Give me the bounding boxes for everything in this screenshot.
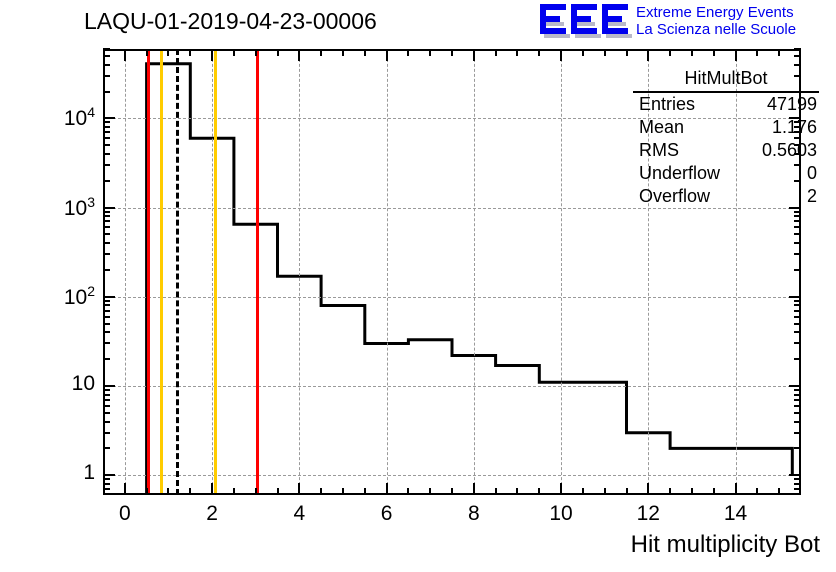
axis-tick: [103, 137, 110, 139]
axis-tick: [794, 253, 801, 255]
stats-row: Entries47199: [633, 93, 819, 116]
axis-tick: [277, 488, 279, 495]
axis-tick: [794, 233, 801, 235]
axis-tick: [103, 310, 110, 312]
axis-tick: [103, 164, 110, 166]
axis-tick: [794, 300, 801, 302]
root-canvas: LAQU-01-2019-04-23-00006 Extreme Energy …: [0, 0, 836, 572]
y-axis-tick-label: 102: [64, 283, 95, 310]
axis-tick: [794, 399, 801, 401]
axis-tick: [516, 49, 518, 56]
stats-row-key: RMS: [639, 140, 679, 161]
axis-tick: [103, 412, 110, 414]
stats-row-value: 0: [807, 163, 817, 184]
stats-row-key: Mean: [639, 117, 684, 138]
axis-tick: [495, 49, 497, 56]
axis-tick: [146, 49, 148, 56]
axis-tick: [103, 488, 110, 490]
axis-tick: [103, 300, 110, 302]
x-axis-tick-label: 6: [357, 502, 417, 526]
y-axis-tick-label: 10: [72, 372, 95, 396]
x-axis-tick-label: 10: [531, 502, 591, 526]
axis-tick: [103, 64, 110, 66]
stats-box-title: HitMultBot: [633, 68, 819, 93]
stats-row-key: Overflow: [639, 186, 710, 207]
axis-tick: [691, 488, 693, 495]
axis-tick: [794, 226, 801, 228]
axis-tick: [103, 385, 115, 387]
axis-tick: [789, 385, 801, 387]
axis-tick: [794, 405, 801, 407]
axis-tick: [103, 474, 115, 476]
axis-tick: [103, 180, 110, 182]
axis-tick: [473, 49, 475, 61]
axis-tick: [789, 296, 801, 298]
axis-tick: [320, 49, 322, 56]
stats-row-value: 47199: [767, 94, 817, 115]
axis-tick: [277, 49, 279, 56]
stats-box: HitMultBot Entries47199Mean1.176RMS0.560…: [633, 68, 819, 208]
axis-tick: [103, 389, 110, 391]
axis-tick: [167, 488, 169, 495]
axis-tick: [146, 488, 148, 495]
axis-tick: [794, 323, 801, 325]
axis-tick: [167, 49, 169, 56]
x-axis-tick-label: 14: [706, 502, 766, 526]
stats-row: Mean1.176: [633, 116, 819, 139]
axis-tick: [189, 488, 191, 495]
axis-tick: [604, 488, 606, 495]
axis-tick: [794, 316, 801, 318]
axis-tick: [103, 91, 110, 93]
axis-tick: [451, 49, 453, 56]
axis-tick: [103, 126, 110, 128]
axis-tick: [103, 121, 110, 123]
axis-tick: [364, 49, 366, 56]
axis-tick: [211, 49, 213, 61]
axis-tick: [669, 488, 671, 495]
stats-row: Underflow0: [633, 162, 819, 185]
axis-tick: [794, 55, 801, 57]
axis-tick: [233, 488, 235, 495]
axis-tick: [669, 49, 671, 56]
axis-tick: [342, 488, 344, 495]
axis-tick: [794, 310, 801, 312]
axis-tick: [794, 220, 801, 222]
axis-tick: [103, 48, 110, 50]
axis-tick: [794, 488, 801, 490]
axis-tick: [794, 331, 801, 333]
axis-tick: [756, 488, 758, 495]
stats-row-key: Entries: [639, 94, 695, 115]
y-axis-tick-label: 1: [83, 461, 95, 485]
axis-tick: [794, 48, 801, 50]
axis-tick: [713, 488, 715, 495]
axis-tick: [582, 49, 584, 56]
axis-tick: [794, 394, 801, 396]
axis-tick: [794, 64, 801, 66]
axis-tick: [103, 399, 110, 401]
axis-tick: [103, 358, 110, 360]
axis-tick: [794, 215, 801, 217]
axis-tick: [103, 323, 110, 325]
axis-tick: [103, 478, 110, 480]
axis-tick: [103, 432, 110, 434]
eee-mark-icon: [540, 4, 628, 36]
axis-tick: [103, 153, 110, 155]
axis-tick: [794, 358, 801, 360]
eee-letter-icon: [571, 4, 597, 34]
axis-tick: [103, 55, 110, 57]
stats-row: RMS0.5603: [633, 139, 819, 162]
axis-tick: [103, 226, 110, 228]
axis-tick: [647, 483, 649, 495]
eee-letter-icon: [540, 4, 566, 34]
axis-tick: [103, 269, 110, 271]
y-axis-tick-label: 104: [64, 104, 95, 131]
axis-tick: [516, 488, 518, 495]
x-axis-tick-label: 2: [182, 502, 242, 526]
axis-tick: [794, 483, 801, 485]
axis-tick: [794, 447, 801, 449]
axis-tick: [211, 483, 213, 495]
x-axis-tick-label: 4: [269, 502, 329, 526]
axis-tick: [626, 488, 628, 495]
axis-tick: [103, 215, 110, 217]
axis-tick: [582, 488, 584, 495]
axis-tick: [794, 412, 801, 414]
eee-logo-text: Extreme Energy Events La Scienza nelle S…: [636, 4, 796, 38]
axis-tick: [473, 483, 475, 495]
axis-tick: [735, 49, 737, 61]
x-axis-tick-label: 12: [618, 502, 678, 526]
axis-tick: [103, 131, 110, 133]
axis-tick: [794, 242, 801, 244]
axis-tick: [407, 488, 409, 495]
axis-tick: [103, 296, 115, 298]
axis-tick: [103, 304, 110, 306]
axis-tick: [124, 483, 126, 495]
axis-tick: [691, 49, 693, 56]
axis-tick: [103, 220, 110, 222]
axis-tick: [538, 49, 540, 56]
axis-tick: [756, 49, 758, 56]
axis-tick: [794, 421, 801, 423]
axis-tick: [103, 233, 110, 235]
x-axis-title: Hit multiplicity Bot: [631, 531, 820, 559]
axis-tick: [407, 49, 409, 56]
axis-tick: [320, 488, 322, 495]
axis-tick: [103, 394, 110, 396]
eee-logo: Extreme Energy Events La Scienza nelle S…: [540, 4, 832, 40]
axis-tick: [429, 49, 431, 56]
axis-tick: [364, 488, 366, 495]
axis-tick: [604, 49, 606, 56]
axis-tick: [124, 49, 126, 61]
axis-tick: [298, 483, 300, 495]
axis-tick: [794, 304, 801, 306]
stats-row-value: 1.176: [772, 117, 817, 138]
stats-row-value: 2: [807, 186, 817, 207]
axis-tick: [103, 117, 115, 119]
axis-tick: [189, 49, 191, 56]
axis-tick: [794, 211, 801, 213]
axis-tick: [778, 488, 780, 495]
axis-tick: [233, 49, 235, 56]
axis-tick: [103, 242, 110, 244]
axis-tick: [560, 483, 562, 495]
axis-tick: [647, 49, 649, 61]
eee-logo-line1: Extreme Energy Events: [636, 4, 796, 21]
axis-tick: [778, 49, 780, 56]
axis-tick: [103, 75, 110, 77]
x-axis-tick-label: 0: [95, 502, 155, 526]
axis-tick: [103, 144, 110, 146]
axis-tick: [103, 207, 115, 209]
axis-tick: [794, 478, 801, 480]
axis-tick: [713, 49, 715, 56]
axis-tick: [103, 253, 110, 255]
axis-tick: [298, 49, 300, 61]
stats-row-key: Underflow: [639, 163, 720, 184]
axis-tick: [342, 49, 344, 56]
axis-tick: [794, 389, 801, 391]
axis-tick: [626, 49, 628, 56]
axis-tick: [103, 316, 110, 318]
axis-tick: [103, 211, 110, 213]
axis-tick: [735, 483, 737, 495]
eee-logo-line2: La Scienza nelle Scuole: [636, 21, 796, 38]
axis-tick: [255, 49, 257, 56]
axis-tick: [103, 405, 110, 407]
axis-tick: [429, 488, 431, 495]
y-axis-tick-label: 103: [64, 194, 95, 221]
axis-tick: [103, 447, 110, 449]
axis-tick: [794, 432, 801, 434]
axis-tick: [451, 488, 453, 495]
axis-tick: [386, 483, 388, 495]
axis-tick: [255, 488, 257, 495]
axis-tick: [794, 342, 801, 344]
axis-tick: [103, 421, 110, 423]
x-axis-tick-label: 8: [444, 502, 504, 526]
axis-tick: [789, 474, 801, 476]
axis-tick: [560, 49, 562, 61]
page-title: LAQU-01-2019-04-23-00006: [84, 8, 377, 35]
axis-tick: [386, 49, 388, 61]
eee-letter-icon: [602, 4, 628, 34]
stats-row-value: 0.5603: [762, 140, 817, 161]
axis-tick: [538, 488, 540, 495]
axis-tick: [103, 342, 110, 344]
axis-tick: [103, 331, 110, 333]
axis-tick: [103, 483, 110, 485]
stats-rows: Entries47199Mean1.176RMS0.5603Underflow0…: [633, 93, 819, 208]
axis-tick: [495, 488, 497, 495]
stats-row: Overflow2: [633, 185, 819, 208]
axis-tick: [794, 269, 801, 271]
